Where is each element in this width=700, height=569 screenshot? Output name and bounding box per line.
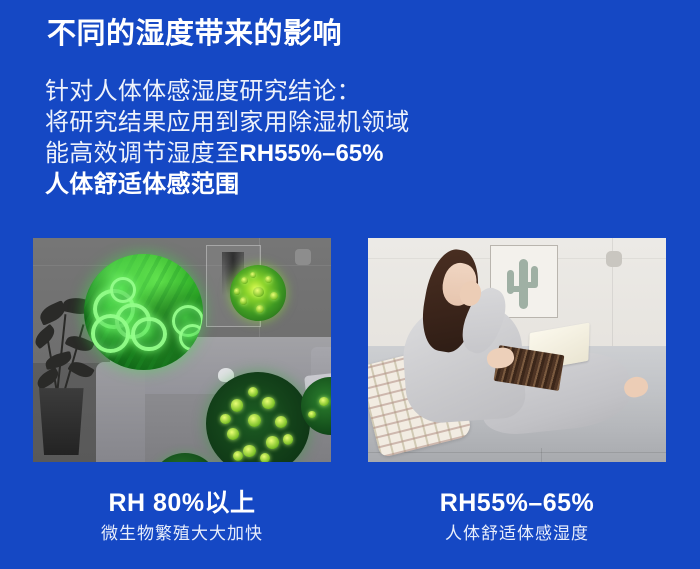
bright-living-room-illustration <box>368 238 666 462</box>
virus-particle-icon <box>230 265 287 321</box>
caption-high-humidity: RH 80%以上 微生物繁殖大大加快 <box>33 487 331 547</box>
sofa-seam-horizontal <box>368 452 666 453</box>
panel-image-high-humidity <box>33 238 331 462</box>
panel-row <box>0 238 700 464</box>
panel-image-comfort-humidity <box>368 238 666 462</box>
caption-head-left: RH 80%以上 <box>33 487 331 519</box>
wall-switch-icon <box>606 251 622 267</box>
dark-living-room-illustration <box>33 238 331 462</box>
caption-head-right: RH55%–65% <box>368 487 666 519</box>
body-line-3-emphasis: RH55%–65% <box>239 140 383 167</box>
caption-comfort-humidity: RH55%–65% 人体舒适体感湿度 <box>368 487 666 547</box>
virus-particle-large-icon <box>206 372 310 462</box>
caption-sub-right: 人体舒适体感湿度 <box>368 521 666 547</box>
humidity-infographic-poster: 不同的湿度带来的影响 针对人体体感湿度研究结论： 将研究结果应用到家用除湿机领域… <box>0 0 700 569</box>
caption-sub-left: 微生物繁殖大大加快 <box>33 521 331 547</box>
body-line-1: 针对人体体感湿度研究结论： <box>45 76 565 107</box>
plant-pot <box>36 388 87 455</box>
body-line-4: 人体舒适体感范围 <box>45 169 565 200</box>
sofa-seam-vertical <box>541 448 542 462</box>
body-line-3-prefix: 能高效调节湿度至 <box>45 140 239 167</box>
body-line-3: 能高效调节湿度至RH55%–65% <box>45 138 565 169</box>
body-line-2: 将研究结果应用到家用除湿机领域 <box>45 107 565 138</box>
wall-switch-icon <box>295 249 311 265</box>
page-title: 不同的湿度带来的影响 <box>47 16 342 52</box>
body-copy-block: 针对人体体感湿度研究结论： 将研究结果应用到家用除湿机领域 能高效调节湿度至RH… <box>45 76 565 200</box>
sofa-arm-left <box>96 362 145 462</box>
mold-colony-large-icon <box>84 254 203 370</box>
